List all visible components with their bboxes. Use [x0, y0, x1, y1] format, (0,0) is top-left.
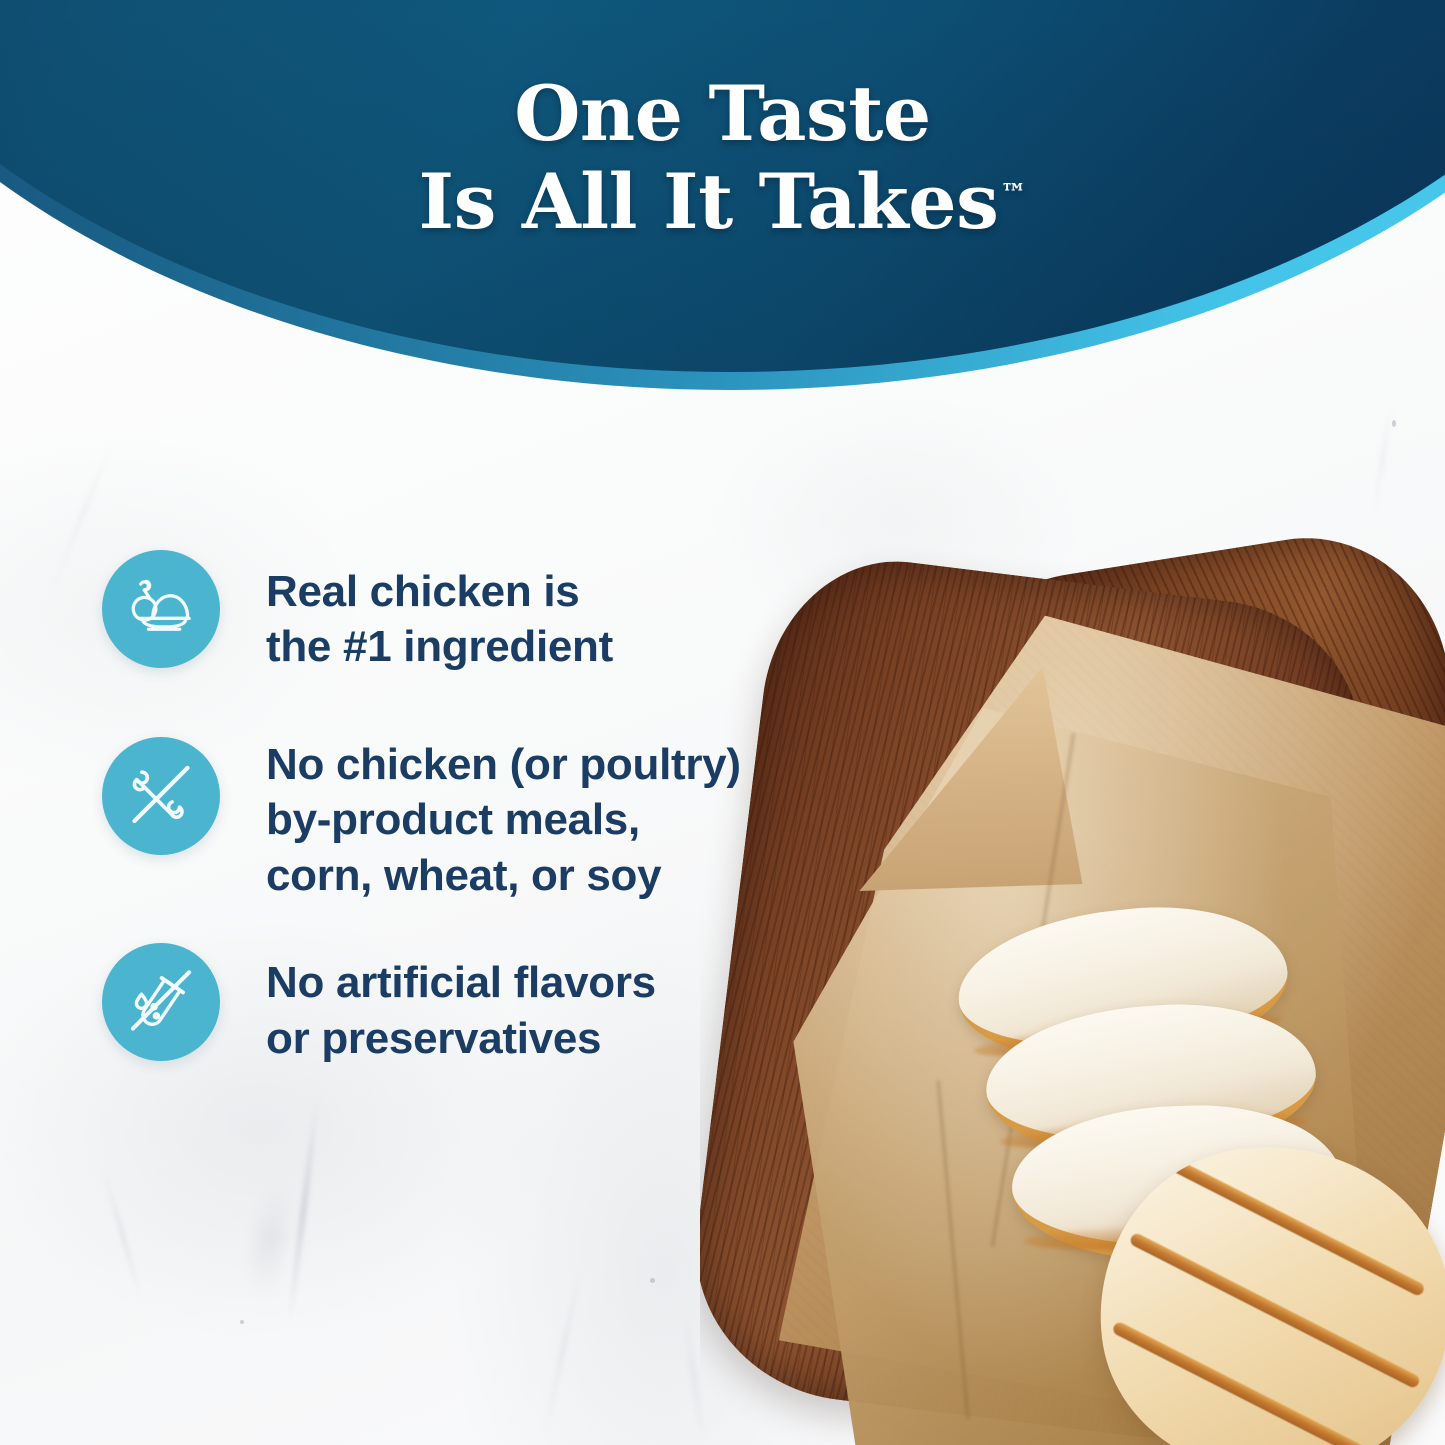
- benefit-item: Real chicken is the #1 ingredient: [102, 550, 822, 675]
- benefit-label: Real chicken is the #1 ingredient: [266, 550, 613, 675]
- benefit-item: No artificial flavors or preservatives: [102, 943, 822, 1066]
- marble-vein: [285, 1090, 321, 1329]
- no-test-tube-icon: [102, 943, 220, 1061]
- marble-vein: [245, 1178, 295, 1301]
- benefit-label: No chicken (or poultry) by-product meals…: [266, 737, 741, 903]
- trademark-symbol: ™: [1000, 179, 1026, 209]
- roast-chicken-platter-icon: [102, 550, 220, 668]
- marble-fleck: [650, 1278, 655, 1283]
- marble-fleck: [240, 1320, 244, 1324]
- benefit-item: No chicken (or poultry) by-product meals…: [102, 737, 822, 903]
- headline-line-1: One Taste: [0, 70, 1445, 158]
- benefit-label: No artificial flavors or preservatives: [266, 943, 656, 1066]
- marble-vein: [540, 1256, 585, 1443]
- headline-line-2: Is All It Takes™: [0, 158, 1445, 246]
- benefit-list: Real chicken is the #1 ingredient No chi…: [102, 550, 822, 1118]
- page-title: One Taste Is All It Takes™: [0, 70, 1445, 246]
- no-bone-icon: [102, 737, 220, 855]
- marble-vein: [99, 1162, 145, 1308]
- grill-mark: [1129, 1232, 1422, 1390]
- chicken-slices: [950, 910, 1445, 1445]
- promo-banner: One Taste Is All It Takes™: [0, 0, 1445, 1445]
- headline-line-2-text: Is All It Takes: [419, 157, 999, 246]
- grill-mark: [1111, 1321, 1404, 1445]
